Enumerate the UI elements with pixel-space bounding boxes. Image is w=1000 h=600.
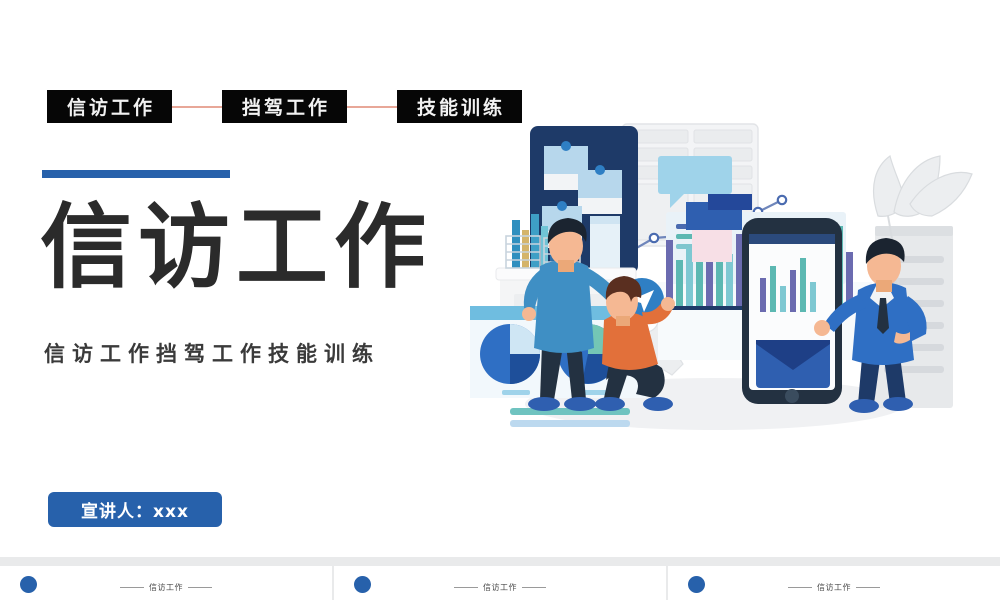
bottom-panel-1[interactable]: 信访工作 bbox=[0, 566, 332, 600]
panel-caption-3: 信访工作 bbox=[668, 582, 1000, 593]
panel-caption-text-1: 信访工作 bbox=[149, 583, 183, 592]
topic-tag-1[interactable]: 信访工作 bbox=[47, 90, 172, 123]
caption-rule-left-3 bbox=[788, 587, 812, 588]
caption-rule-right-2 bbox=[522, 587, 546, 588]
page-subtitle: 信访工作挡驾工作技能训练 bbox=[44, 338, 380, 368]
caption-rule-left-1 bbox=[120, 587, 144, 588]
panel-caption-1: 信访工作 bbox=[0, 582, 332, 593]
hero-illustration bbox=[470, 108, 990, 438]
title-accent-bar bbox=[42, 170, 230, 178]
tag-connector-line-2 bbox=[347, 106, 397, 108]
tag-connector-line-1 bbox=[172, 106, 222, 108]
bottom-panel-3[interactable]: 信访工作 bbox=[666, 566, 1000, 600]
topic-tag-2[interactable]: 挡驾工作 bbox=[222, 90, 347, 123]
panel-caption-2: 信访工作 bbox=[334, 582, 666, 593]
bottom-panel-2[interactable]: 信访工作 bbox=[332, 566, 666, 600]
panel-caption-text-2: 信访工作 bbox=[483, 583, 517, 592]
page-title: 信访工作 bbox=[40, 196, 432, 299]
speaker-button[interactable]: 宣讲人：xxx bbox=[48, 492, 222, 527]
caption-rule-right-3 bbox=[856, 587, 880, 588]
panel-caption-text-3: 信访工作 bbox=[817, 583, 851, 592]
bottom-panel-strip: 信访工作 信访工作 信访工作 bbox=[0, 566, 1000, 600]
bottom-separator bbox=[0, 557, 1000, 566]
topic-tag-row: 信访工作 挡驾工作 技能训练 bbox=[47, 90, 522, 123]
caption-rule-left-2 bbox=[454, 587, 478, 588]
caption-rule-right-1 bbox=[188, 587, 212, 588]
presentation-title-slide: 信访工作 挡驾工作 技能训练 信访工作 信访工作挡驾工作技能训练 宣讲人：xxx bbox=[0, 0, 1000, 600]
